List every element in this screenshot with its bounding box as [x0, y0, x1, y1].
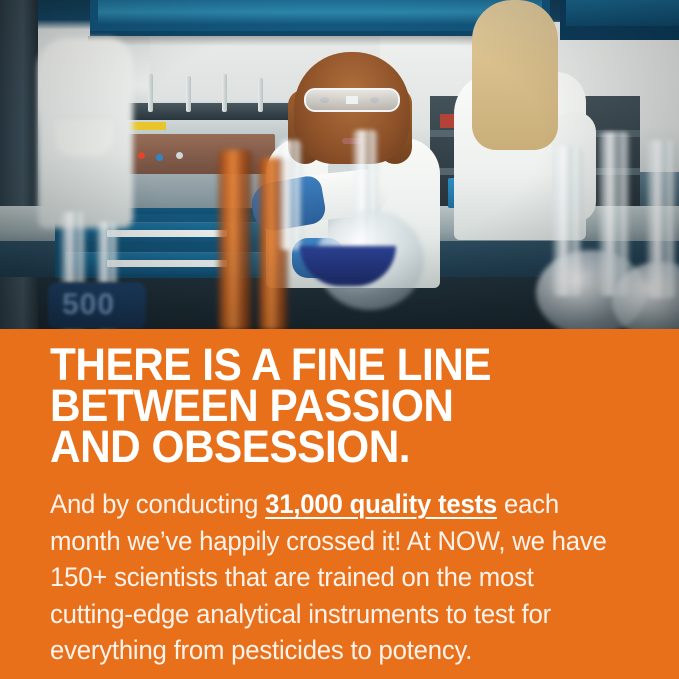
lab-photo: 500 — [0, 0, 679, 329]
body-copy: And by conducting 31,000 quality tests e… — [50, 486, 617, 669]
quality-tests-highlight: 31,000 quality tests — [265, 489, 497, 519]
headline: THERE IS A FINE LINE BETWEEN PASSION AND… — [50, 344, 614, 467]
orange-message-panel: THERE IS A FINE LINE BETWEEN PASSION AND… — [0, 329, 679, 679]
photo-vignette — [0, 0, 679, 329]
advertisement-creative: 500 THERE IS A FINE LINE BETWEEN PASSION… — [0, 0, 679, 679]
lab-scene: 500 — [0, 0, 679, 329]
body-copy-before: And by conducting — [50, 489, 265, 519]
